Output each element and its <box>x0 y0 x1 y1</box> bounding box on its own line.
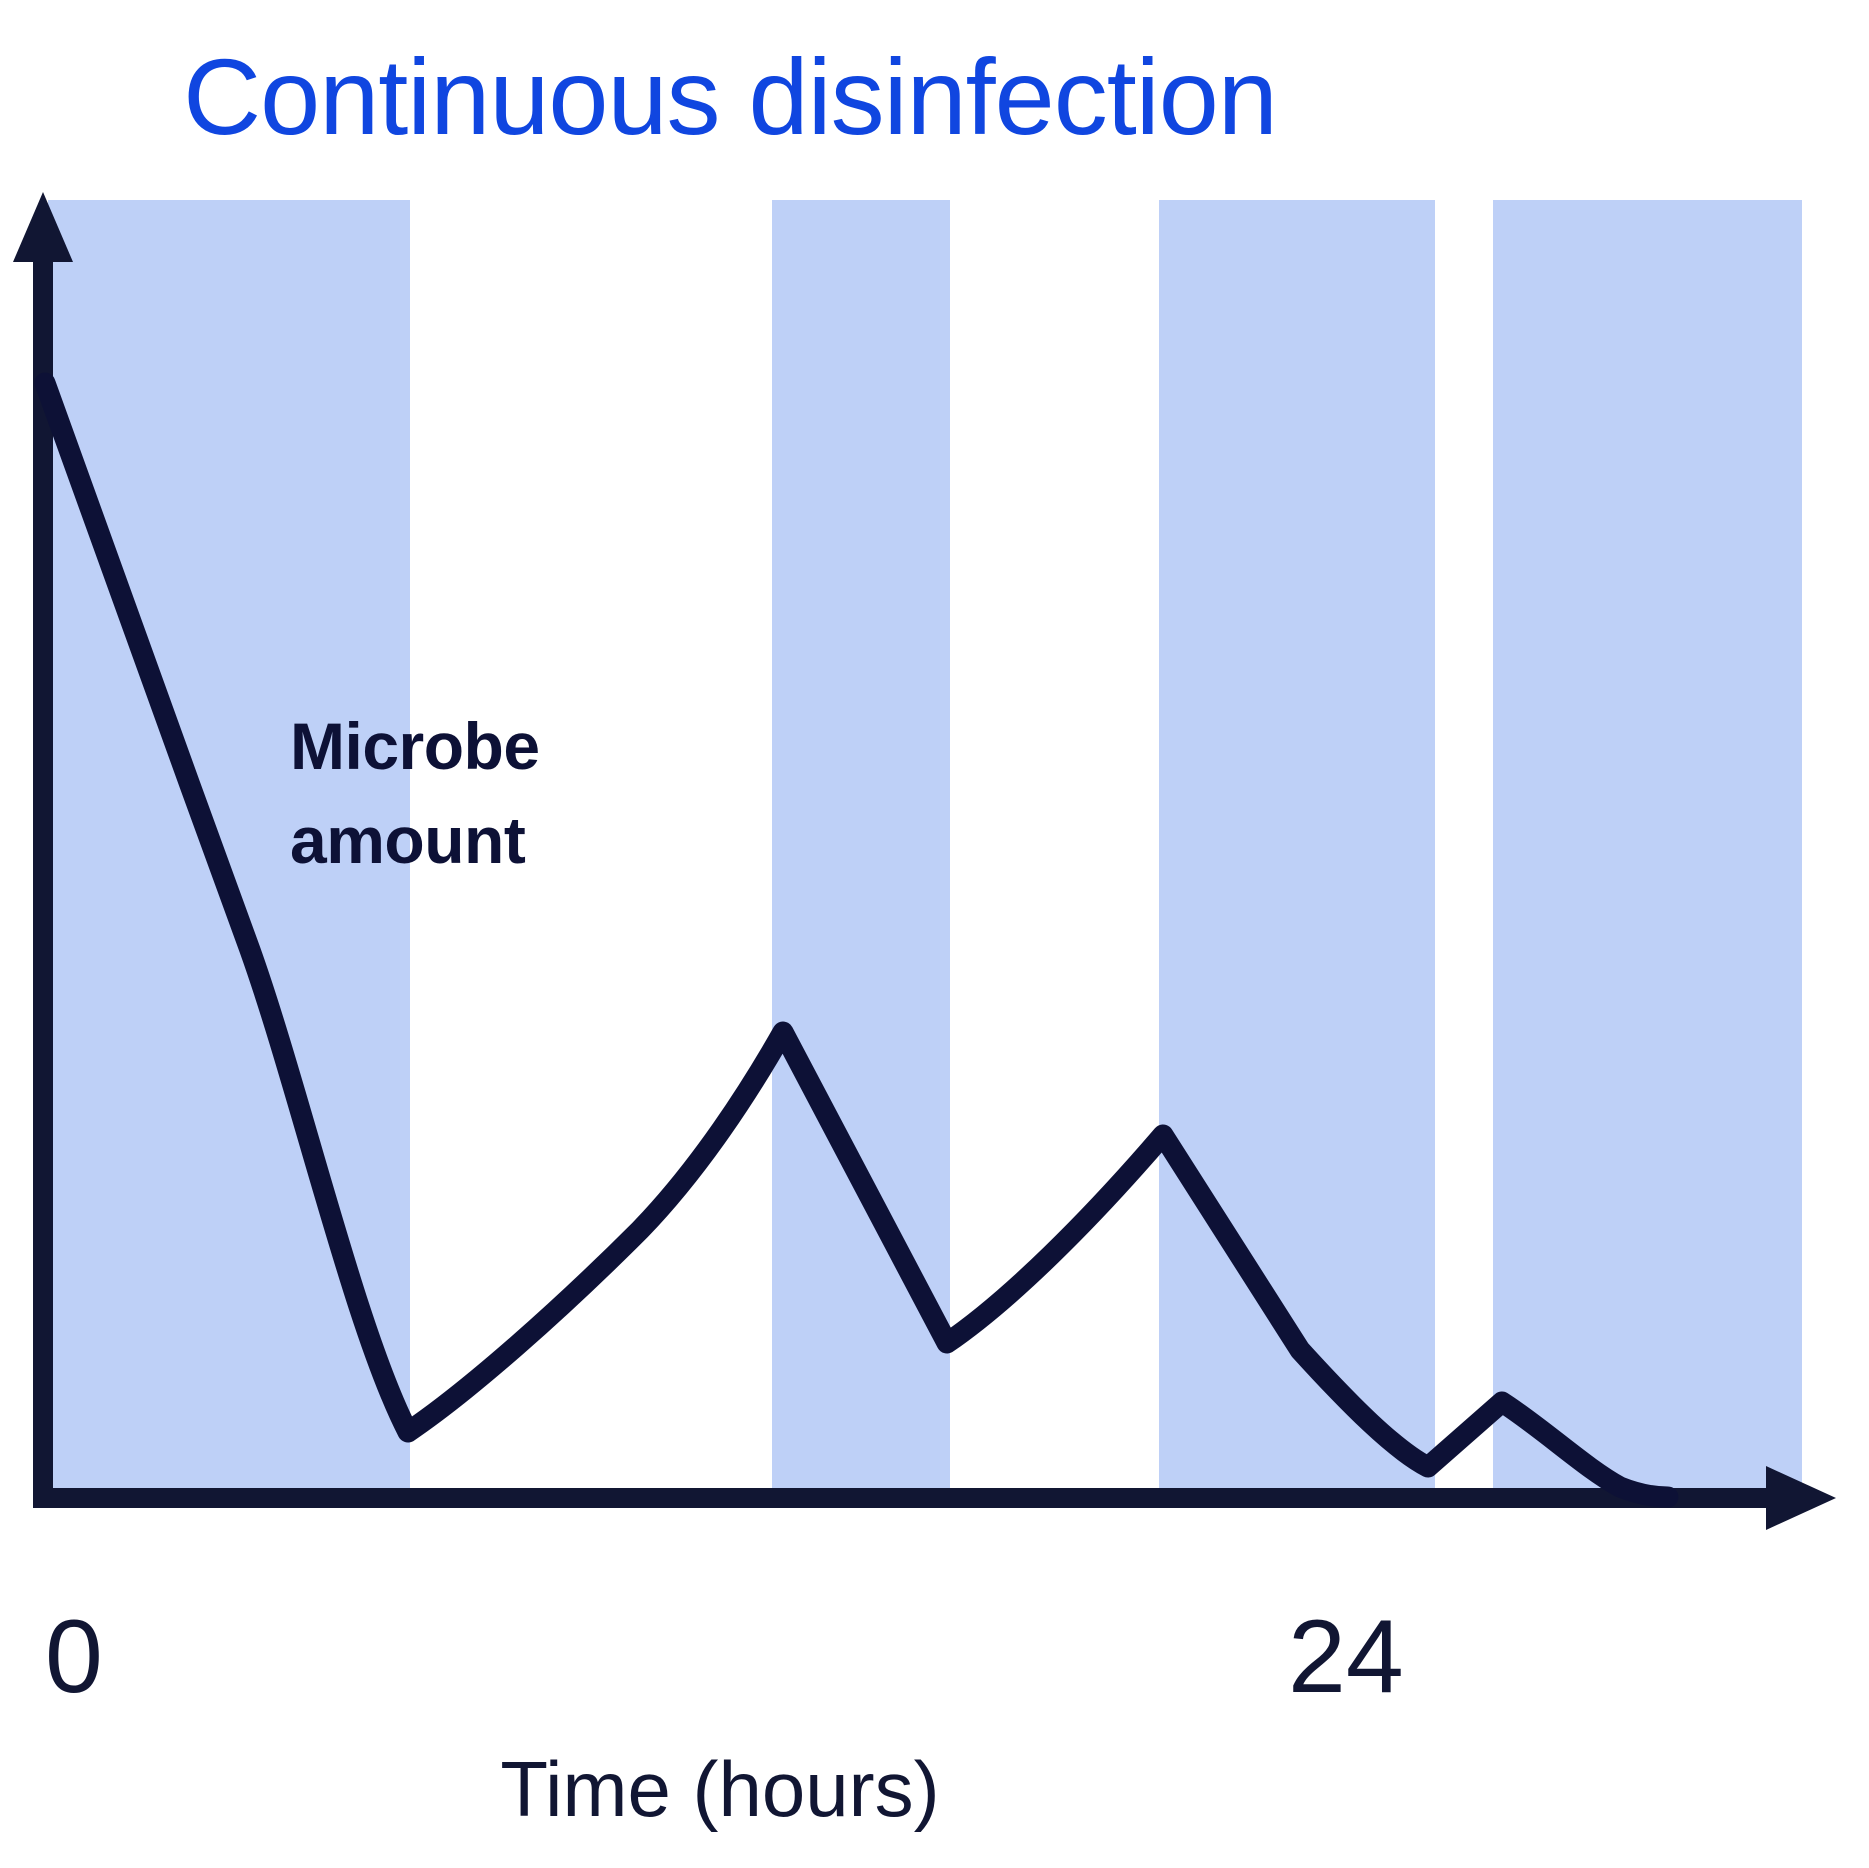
shaded-band <box>1493 200 1802 1498</box>
shaded-band <box>1159 200 1435 1498</box>
x-tick-label-0: 0 <box>45 1598 103 1717</box>
x-tick-label-24: 24 <box>1288 1598 1404 1717</box>
x-axis-title: Time (hours) <box>0 1744 1440 1835</box>
series-label: Microbe amount <box>290 700 710 887</box>
chart-canvas: Continuous disinfection Microbe amount 0… <box>0 0 1869 1868</box>
plot-area <box>0 0 1869 1868</box>
